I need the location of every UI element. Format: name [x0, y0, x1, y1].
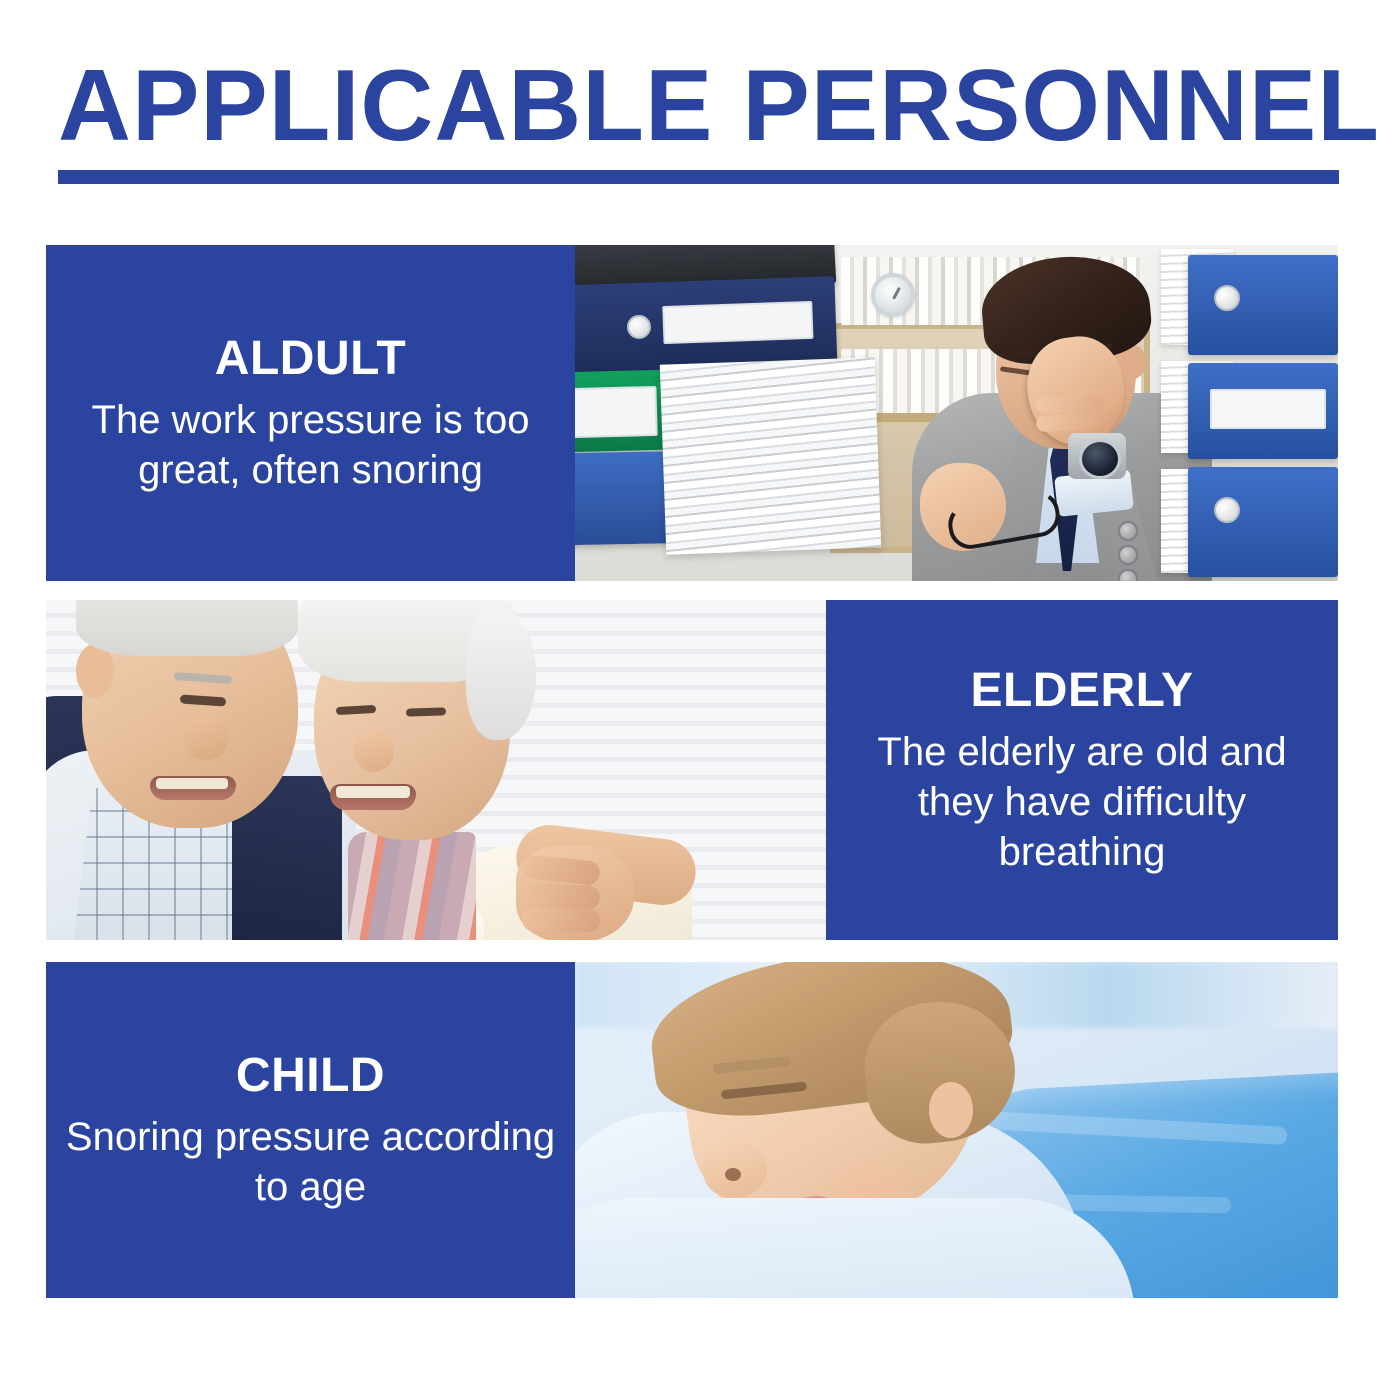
wristwatch-icon [1068, 433, 1126, 479]
finger [522, 907, 600, 932]
elderly-woman-hair-side [466, 610, 536, 740]
finger [521, 854, 601, 886]
right-binder [1188, 363, 1338, 459]
binder-label [662, 301, 813, 344]
right-binder [1188, 467, 1338, 577]
binder-label [575, 386, 658, 439]
elderly-man-hair [76, 600, 298, 656]
elderly-woman-eye-right [406, 707, 446, 716]
child-nostril [725, 1168, 741, 1181]
adult-description: The work pressure is too great, often sn… [60, 395, 561, 495]
child-text-panel: CHILD Snoring pressure according to age [46, 962, 575, 1298]
sleeve-button [1118, 521, 1138, 541]
page-title: APPLICABLE PERSONNEL [58, 52, 1342, 160]
binder-label [1210, 389, 1326, 429]
sleeve-button [1118, 545, 1138, 565]
elderly-title: ELDERLY [970, 663, 1193, 719]
adult-photo [575, 245, 1338, 581]
wall-clock-icon [871, 273, 915, 317]
section-elderly: ELDERLY The elderly are old and they hav… [46, 600, 1338, 940]
sleeve-buttons [1118, 521, 1138, 581]
adult-text-panel: ALDULT The work pressure is too great, o… [46, 245, 575, 581]
elderly-woman-teeth [336, 786, 410, 798]
child-description: Snoring pressure according to age [60, 1112, 561, 1212]
elderly-photo [46, 600, 826, 940]
finger [1036, 395, 1104, 413]
pillow-fold [575, 1198, 1135, 1298]
section-child: CHILD Snoring pressure according to age [46, 962, 1338, 1298]
right-binder [1188, 255, 1338, 355]
hand-on-shoulder [516, 846, 634, 940]
elderly-man-nose [184, 716, 228, 760]
child-title: CHILD [236, 1048, 385, 1104]
sleeve-button [1118, 569, 1138, 581]
elderly-woman-nose [354, 730, 394, 772]
adult-title: ALDULT [215, 331, 406, 387]
title-underline-bar [58, 170, 1339, 184]
binder-ring-hole [1214, 497, 1240, 523]
binder-ring-hole [627, 315, 652, 340]
woman-scarf [348, 832, 476, 940]
infographic-page: APPLICABLE PERSONNEL ALDULT The work pre… [0, 0, 1400, 1400]
elderly-description: The elderly are old and they have diffic… [840, 727, 1324, 877]
elderly-man-teeth [156, 778, 228, 789]
section-adult: ALDULT The work pressure is too great, o… [46, 245, 1338, 581]
child-photo [575, 962, 1338, 1298]
paper-stack [660, 357, 882, 554]
binder-ring-hole [1214, 285, 1240, 311]
finger [521, 882, 600, 910]
elderly-text-panel: ELDERLY The elderly are old and they hav… [826, 600, 1338, 940]
header: APPLICABLE PERSONNEL [0, 0, 1400, 205]
finger [1036, 413, 1099, 432]
child-ear [929, 1082, 973, 1138]
